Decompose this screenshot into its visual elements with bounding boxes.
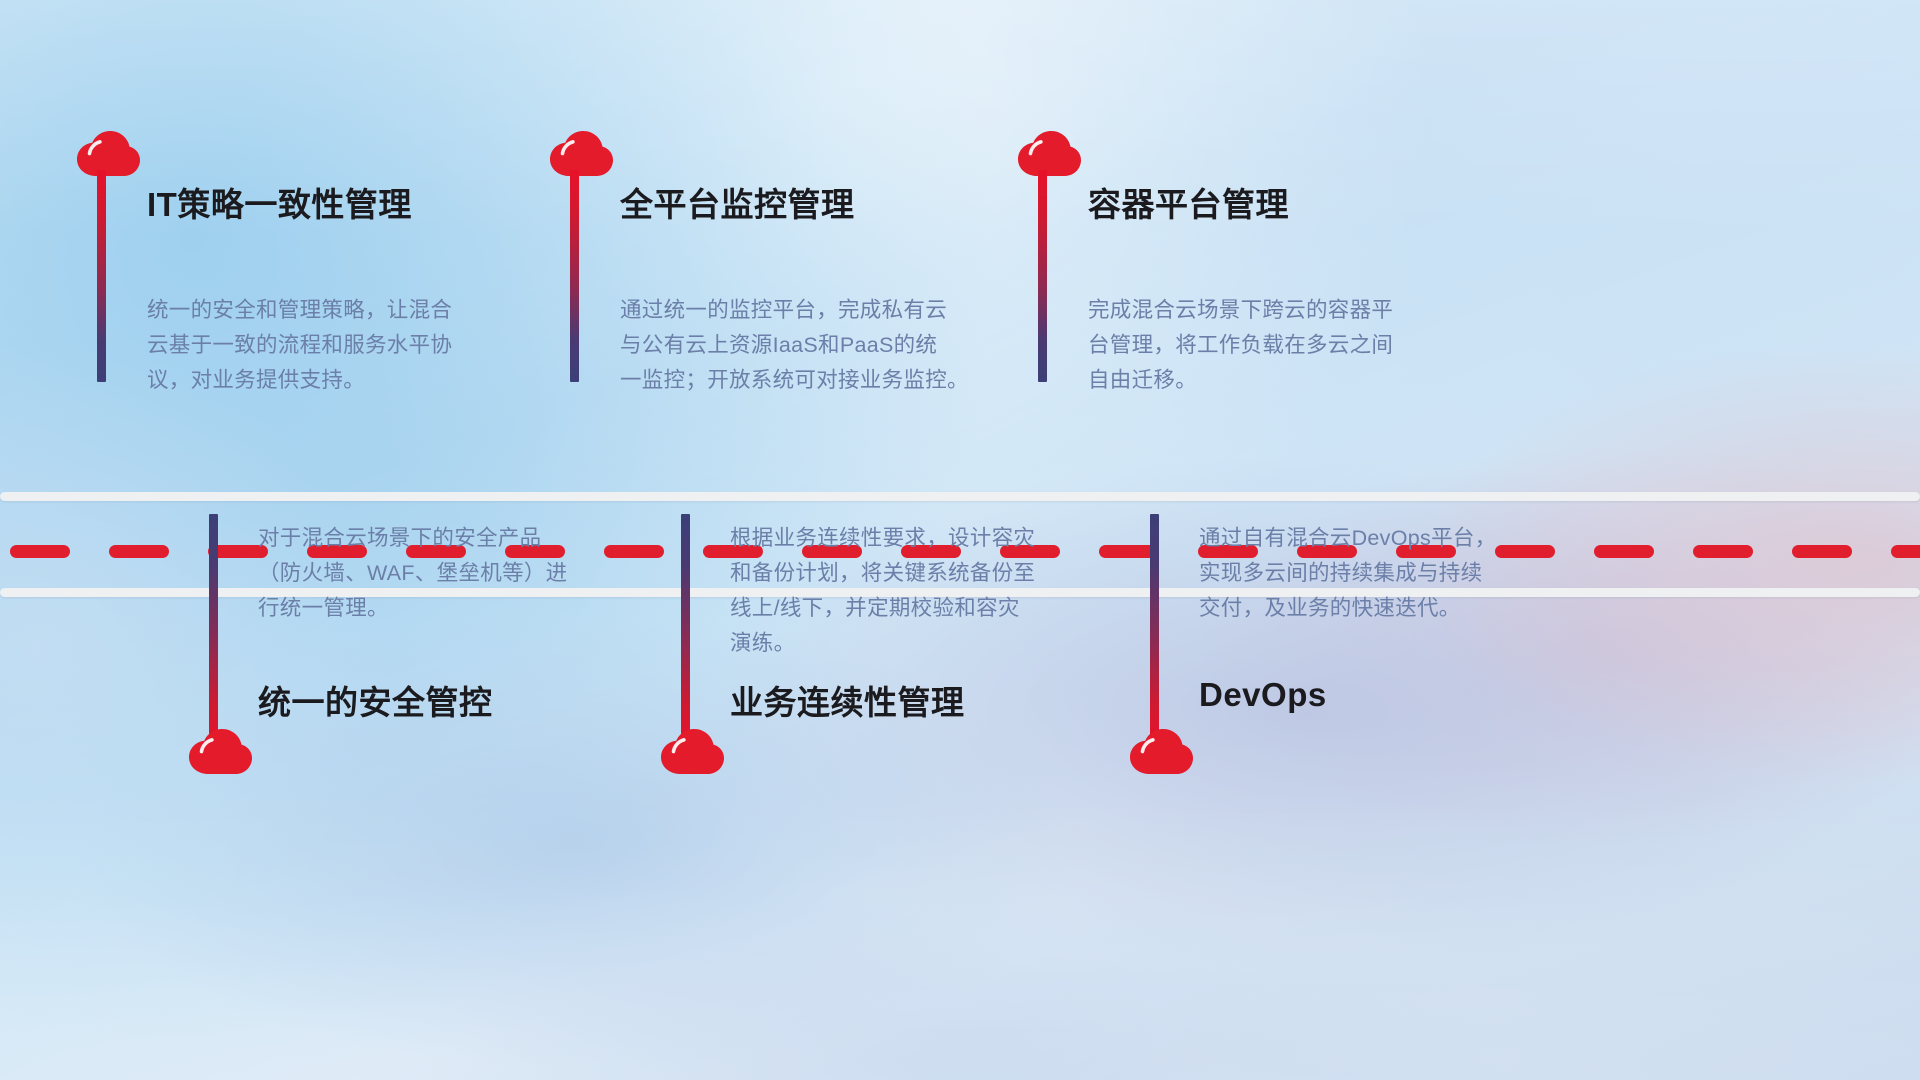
body-line: （防火墙、WAF、堡垒机等）进 [258, 556, 638, 591]
body-line: 议，对业务提供支持。 [147, 363, 527, 398]
body-line: 线上/线下，并定期校验和容灾 [730, 591, 1120, 626]
column-body: 通过自有混合云DevOps平台， 实现多云间的持续集成与持续 交付，及业务的快速… [1199, 521, 1579, 626]
cloud-icon [549, 131, 613, 177]
cloud-icon [1017, 131, 1081, 177]
connector-stem [1150, 514, 1159, 747]
body-line: 根据业务连续性要求，设计容灾 [730, 521, 1120, 556]
column-body: 统一的安全和管理策略，让混合 云基于一致的流程和服务水平协 议，对业务提供支持。 [147, 293, 527, 398]
dash-segment [1693, 545, 1753, 558]
column-body: 根据业务连续性要求，设计容灾 和备份计划，将关键系统备份至 线上/线下，并定期校… [730, 521, 1120, 661]
dash-segment [109, 545, 169, 558]
connector-stem [209, 514, 218, 747]
body-line: 演练。 [730, 626, 1120, 661]
column-body: 对于混合云场景下的安全产品 （防火墙、WAF、堡垒机等）进 行统一管理。 [258, 521, 638, 626]
body-line: 实现多云间的持续集成与持续 [1199, 556, 1579, 591]
column-title: 统一的安全管控 [258, 676, 493, 724]
body-line: 和备份计划，将关键系统备份至 [730, 556, 1120, 591]
body-line: 通过统一的监控平台，完成私有云 [620, 293, 1010, 328]
dash-segment [1891, 545, 1920, 558]
dash-segment [10, 545, 70, 558]
body-line: 台管理，将工作负载在多云之间 [1088, 328, 1468, 363]
cloud-icon [1129, 729, 1193, 775]
cloud-icon [76, 131, 140, 177]
body-line: 统一的安全和管理策略，让混合 [147, 293, 527, 328]
body-line: 云基于一致的流程和服务水平协 [147, 328, 527, 363]
column-title: DevOps [1199, 676, 1327, 714]
body-line: 自由迁移。 [1088, 363, 1468, 398]
body-line: 行统一管理。 [258, 591, 638, 626]
cloud-icon [660, 729, 724, 775]
connector-stem [570, 170, 579, 382]
column-body: 完成混合云场景下跨云的容器平 台管理，将工作负载在多云之间 自由迁移。 [1088, 293, 1468, 398]
column-title: 容器平台管理 [1088, 178, 1289, 226]
dash-segment [1792, 545, 1852, 558]
cloud-icon [188, 729, 252, 775]
dash-segment [1594, 545, 1654, 558]
column-body: 通过统一的监控平台，完成私有云 与公有云上资源IaaS和PaaS的统 一监控；开… [620, 293, 1010, 398]
body-line: 与公有云上资源IaaS和PaaS的统 [620, 328, 1010, 363]
divider-bar-top [0, 492, 1920, 501]
column-title: 业务连续性管理 [730, 676, 965, 724]
body-line: 一监控；开放系统可对接业务监控。 [620, 363, 1010, 398]
body-line: 对于混合云场景下的安全产品 [258, 521, 638, 556]
body-line: 通过自有混合云DevOps平台， [1199, 521, 1579, 556]
connector-stem [681, 514, 690, 747]
connector-stem [1038, 170, 1047, 382]
connector-stem [97, 170, 106, 382]
column-title: IT策略一致性管理 [147, 178, 412, 226]
body-line: 交付，及业务的快速迭代。 [1199, 591, 1579, 626]
body-line: 完成混合云场景下跨云的容器平 [1088, 293, 1468, 328]
column-title: 全平台监控管理 [620, 178, 855, 226]
